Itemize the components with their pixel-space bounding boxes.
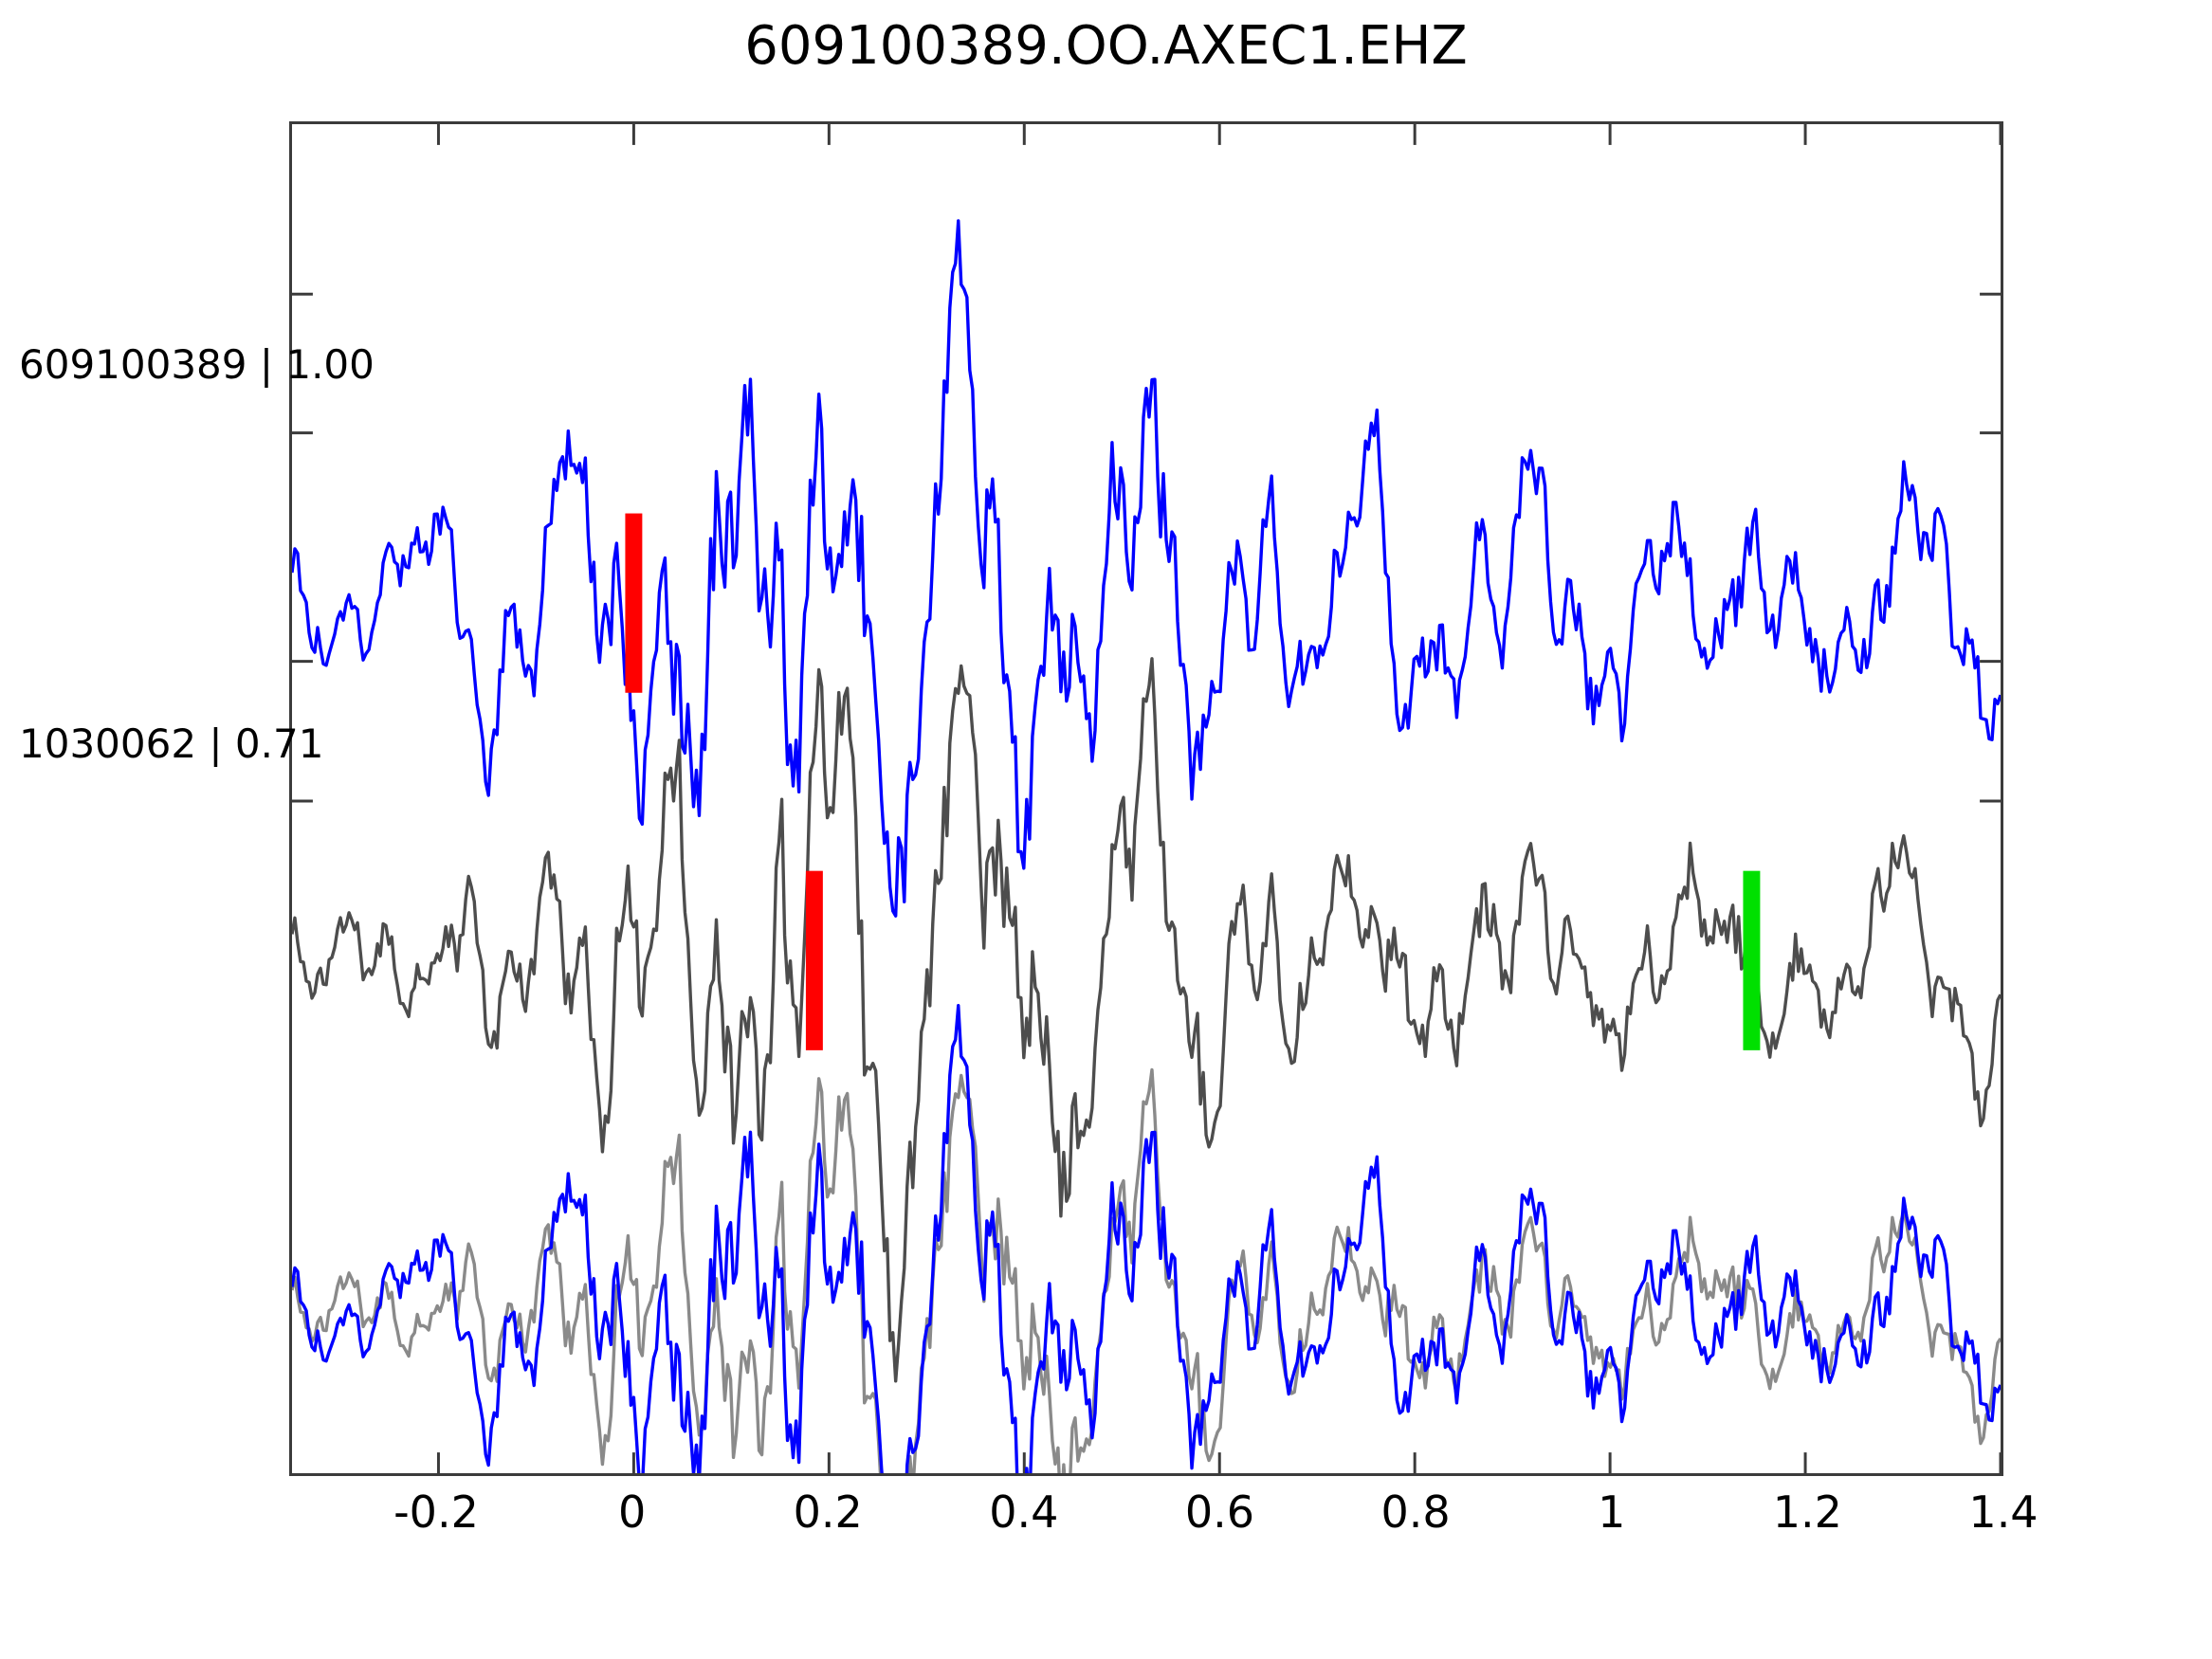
x-tick-label: 0.6: [1185, 1486, 1254, 1538]
trace-label-detection: 1030062 | 0.71: [19, 720, 323, 767]
page-title: 609100389.OO.AXEC1.EHZ: [0, 17, 2212, 76]
x-tick-label: 0.2: [794, 1486, 863, 1538]
waveform-canvas: [292, 124, 2001, 1473]
x-tick-label: 0.4: [989, 1486, 1058, 1538]
x-tick-label: -0.2: [393, 1486, 479, 1538]
pick-red-template: [625, 514, 642, 693]
plot-area: [289, 121, 2003, 1476]
x-tick-label: 0: [618, 1486, 646, 1538]
pick-green-detection: [1743, 871, 1760, 1050]
x-tick-label: 1: [1598, 1486, 1625, 1538]
x-tick-label: 1.4: [1968, 1486, 2038, 1538]
x-tick-label: 1.2: [1773, 1486, 1842, 1538]
trace-template-609100389: [292, 221, 2001, 916]
x-tick-label: 0.8: [1381, 1486, 1451, 1538]
seismic-waveform-figure: 609100389.OO.AXEC1.EHZ 609100389 | 1.00 …: [0, 0, 2212, 1659]
pick-red-detection: [806, 871, 823, 1050]
trace-label-template: 609100389 | 1.00: [19, 341, 375, 388]
